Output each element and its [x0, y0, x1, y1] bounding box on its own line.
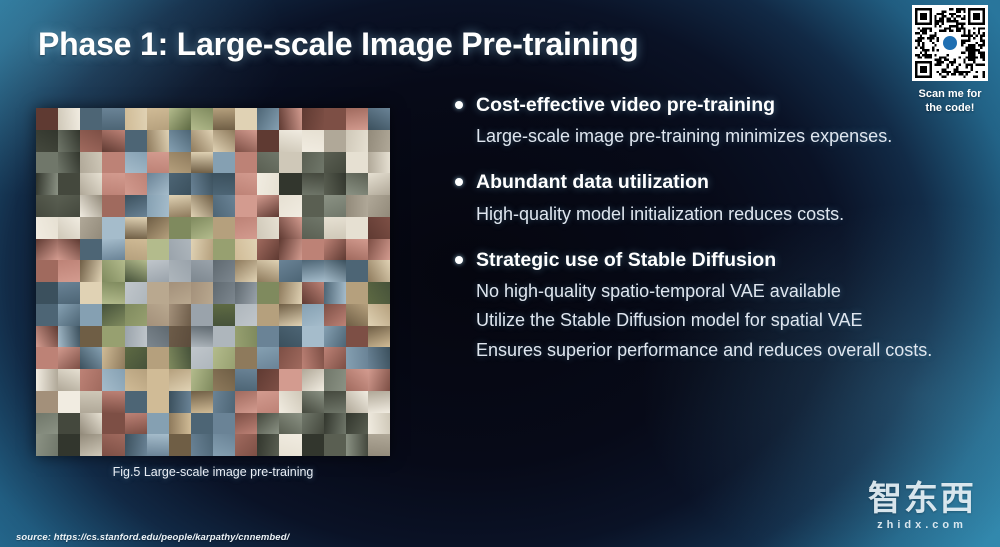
collage-cell [191, 239, 213, 261]
collage-cell [169, 217, 191, 239]
slide-root: Phase 1: Large-scale Image Pre-training … [0, 0, 1000, 547]
collage-cell [125, 260, 147, 282]
collage-cell [213, 304, 235, 326]
watermark: 智东西 zhidx.com [868, 482, 976, 531]
collage-cell [36, 152, 58, 174]
collage-cell [302, 108, 324, 130]
collage-cell [191, 434, 213, 456]
bullet-heading-text: Cost-effective video pre-training [476, 94, 775, 116]
collage-cell [368, 239, 390, 261]
collage-cell [102, 239, 124, 261]
bullet-line: High-quality model initialization reduce… [476, 200, 970, 229]
collage-cell [346, 173, 368, 195]
qr-code-block[interactable]: Scan me for the code! [906, 0, 994, 116]
collage-cell [279, 391, 301, 413]
collage-cell [36, 173, 58, 195]
collage-cell [191, 347, 213, 369]
collage-cell [235, 260, 257, 282]
collage-cell [235, 413, 257, 435]
collage-cell [324, 173, 346, 195]
collage-cell [80, 217, 102, 239]
bullet-heading: Abundant data utilization [450, 169, 970, 195]
collage-cell [235, 326, 257, 348]
collage-cell [125, 195, 147, 217]
collage-cell [80, 434, 102, 456]
collage-cell [257, 173, 279, 195]
collage-cell [302, 130, 324, 152]
collage-cell [257, 434, 279, 456]
bullet-dot-icon [455, 256, 463, 264]
collage-cell [102, 391, 124, 413]
collage-cell [80, 152, 102, 174]
collage-cell [169, 282, 191, 304]
collage-cell [279, 326, 301, 348]
collage-cell [213, 413, 235, 435]
collage-cell [102, 217, 124, 239]
collage-cell [125, 326, 147, 348]
collage-cell [125, 369, 147, 391]
collage-cell [80, 260, 102, 282]
watermark-logo-cn: 智东西 [868, 482, 976, 516]
bullet-list: Cost-effective video pre-training Large-… [450, 92, 970, 383]
collage-cell [102, 152, 124, 174]
collage-cell [58, 282, 80, 304]
collage-cell [169, 195, 191, 217]
collage-cell [213, 217, 235, 239]
collage-cell [324, 347, 346, 369]
collage-cell [191, 369, 213, 391]
collage-cell [169, 173, 191, 195]
collage-cell [191, 195, 213, 217]
collage-cell [324, 326, 346, 348]
collage-cell [279, 108, 301, 130]
collage-cell [36, 217, 58, 239]
collage-cell [346, 239, 368, 261]
collage-cell [147, 391, 169, 413]
watermark-logo-en: zhidx.com [868, 519, 976, 531]
collage-cell [169, 304, 191, 326]
collage-cell [257, 239, 279, 261]
collage-cell [324, 217, 346, 239]
collage-cell [324, 282, 346, 304]
collage-cell [302, 239, 324, 261]
collage-cell [324, 391, 346, 413]
collage-cell [147, 282, 169, 304]
collage-cell [102, 326, 124, 348]
collage-cell [58, 391, 80, 413]
bullet-heading: Cost-effective video pre-training [450, 92, 970, 118]
collage-cell [80, 282, 102, 304]
collage-cell [257, 217, 279, 239]
collage-cell [125, 108, 147, 130]
collage-cell [302, 413, 324, 435]
collage-cell [346, 304, 368, 326]
collage-cell [346, 347, 368, 369]
collage-cell [125, 304, 147, 326]
collage-cell [257, 391, 279, 413]
bullet-heading: Strategic use of Stable Diffusion [450, 247, 970, 273]
collage-cell [213, 152, 235, 174]
collage-cell [36, 282, 58, 304]
collage-cell [302, 217, 324, 239]
collage-cell [213, 369, 235, 391]
collage-cell [302, 369, 324, 391]
collage-cell [257, 369, 279, 391]
bullet-heading-text: Strategic use of Stable Diffusion [476, 249, 776, 271]
collage-cell [213, 239, 235, 261]
collage-cell [125, 130, 147, 152]
collage-cell [213, 108, 235, 130]
bullet-body: No high-quality spatio-temporal VAE avai… [450, 277, 970, 364]
collage-cell [169, 108, 191, 130]
collage-cell [36, 391, 58, 413]
collage-cell [169, 152, 191, 174]
collage-cell [346, 217, 368, 239]
collage-cell [125, 434, 147, 456]
collage-cell [36, 369, 58, 391]
collage-cell [169, 391, 191, 413]
collage-cell [257, 130, 279, 152]
collage-cell [102, 195, 124, 217]
collage-cell [279, 239, 301, 261]
collage-cell [235, 434, 257, 456]
collage-cell [302, 173, 324, 195]
collage-cell [36, 130, 58, 152]
collage-cell [279, 304, 301, 326]
collage-cell [368, 413, 390, 435]
collage-cell [169, 326, 191, 348]
collage-cell [125, 391, 147, 413]
collage-cell [346, 195, 368, 217]
bullet-heading-text: Abundant data utilization [476, 171, 709, 193]
collage-cell [125, 152, 147, 174]
collage-cell [58, 108, 80, 130]
collage-cell [125, 413, 147, 435]
collage-cell [36, 239, 58, 261]
collage-cell [191, 304, 213, 326]
collage-cell [235, 239, 257, 261]
figure-image [36, 108, 390, 456]
collage-cell [213, 195, 235, 217]
collage-cell [235, 369, 257, 391]
collage-cell [102, 130, 124, 152]
bullet-item-3: Strategic use of Stable Diffusion No hig… [450, 247, 970, 365]
collage-cell [324, 434, 346, 456]
collage-cell [324, 108, 346, 130]
collage-cell [36, 326, 58, 348]
collage-cell [147, 413, 169, 435]
collage-cell [213, 260, 235, 282]
collage-cell [191, 217, 213, 239]
collage-cell [125, 239, 147, 261]
collage-cell [147, 326, 169, 348]
collage-cell [169, 347, 191, 369]
collage-cell [279, 195, 301, 217]
collage-cell [147, 195, 169, 217]
collage-cell [302, 391, 324, 413]
qr-caption-line-1: Scan me for [906, 87, 994, 101]
collage-cell [125, 217, 147, 239]
collage-cell [257, 152, 279, 174]
collage-cell [346, 413, 368, 435]
collage-cell [279, 130, 301, 152]
collage-cell [58, 152, 80, 174]
bullet-dot-icon [455, 101, 463, 109]
collage-cell [80, 239, 102, 261]
collage-cell [257, 260, 279, 282]
collage-cell [80, 195, 102, 217]
collage-cell [368, 326, 390, 348]
collage-cell [147, 369, 169, 391]
collage-cell [346, 108, 368, 130]
collage-cell [324, 152, 346, 174]
collage-cell [235, 195, 257, 217]
collage-cell [36, 260, 58, 282]
collage-cell [324, 413, 346, 435]
collage-cell [257, 347, 279, 369]
collage-cell [36, 195, 58, 217]
bullet-line: No high-quality spatio-temporal VAE avai… [476, 277, 970, 306]
collage-cell [302, 347, 324, 369]
collage-cell [147, 130, 169, 152]
collage-cell [191, 152, 213, 174]
collage-cell [102, 173, 124, 195]
bullet-item-2: Abundant data utilization High-quality m… [450, 169, 970, 228]
collage-cell [346, 391, 368, 413]
collage-cell [368, 195, 390, 217]
collage-cell [324, 260, 346, 282]
collage-cell [36, 434, 58, 456]
collage-cell [58, 413, 80, 435]
collage-cell [257, 326, 279, 348]
collage-cell [368, 282, 390, 304]
collage-cell [191, 326, 213, 348]
qr-code-icon[interactable] [912, 5, 988, 81]
collage-cell [102, 260, 124, 282]
collage-cell [125, 347, 147, 369]
collage-cell [324, 369, 346, 391]
collage-cell [147, 304, 169, 326]
collage-cell [125, 173, 147, 195]
collage-cell [169, 434, 191, 456]
collage-cell [302, 304, 324, 326]
collage-cell [169, 260, 191, 282]
collage-cell [368, 369, 390, 391]
collage-cell [346, 326, 368, 348]
collage-cell [302, 434, 324, 456]
collage-cell [235, 391, 257, 413]
collage-cell [147, 173, 169, 195]
collage-cell [346, 434, 368, 456]
collage-cell [213, 282, 235, 304]
collage-cell [36, 347, 58, 369]
collage-cell [213, 326, 235, 348]
collage-cell [102, 413, 124, 435]
collage-cell [302, 152, 324, 174]
collage-cell [102, 282, 124, 304]
bullet-dot-icon [455, 178, 463, 186]
collage-cell [58, 130, 80, 152]
qr-caption-line-2: the code! [906, 101, 994, 115]
collage-cell [80, 130, 102, 152]
collage-cell [235, 217, 257, 239]
collage-cell [257, 108, 279, 130]
collage-cell [235, 347, 257, 369]
image-collage-tsne [36, 108, 390, 456]
collage-cell [368, 152, 390, 174]
collage-cell [279, 217, 301, 239]
collage-cell [80, 391, 102, 413]
collage-cell [346, 260, 368, 282]
bullet-line: Large-scale image pre-training minimizes… [476, 122, 970, 151]
collage-cell [58, 369, 80, 391]
collage-cell [80, 173, 102, 195]
collage-cell [147, 108, 169, 130]
collage-cell [36, 304, 58, 326]
collage-cell [58, 326, 80, 348]
collage-cell [147, 347, 169, 369]
collage-cell [302, 326, 324, 348]
collage-cell [147, 239, 169, 261]
collage-cell [80, 326, 102, 348]
collage-cell [80, 347, 102, 369]
collage-cell [346, 282, 368, 304]
qr-caption: Scan me for the code! [906, 87, 994, 116]
collage-cell [235, 152, 257, 174]
collage-cell [80, 369, 102, 391]
collage-cell [169, 239, 191, 261]
collage-cell [279, 260, 301, 282]
collage-cell [257, 282, 279, 304]
collage-cell [191, 413, 213, 435]
collage-cell [368, 217, 390, 239]
collage-cell [302, 195, 324, 217]
bullet-body: Large-scale image pre-training minimizes… [450, 122, 970, 151]
collage-cell [368, 108, 390, 130]
source-note: source: https://cs.stanford.edu/people/k… [16, 532, 289, 543]
bullet-body: High-quality model initialization reduce… [450, 200, 970, 229]
collage-cell [58, 304, 80, 326]
collage-cell [58, 195, 80, 217]
collage-cell [257, 304, 279, 326]
collage-cell [279, 413, 301, 435]
collage-cell [191, 391, 213, 413]
collage-cell [368, 434, 390, 456]
collage-cell [125, 282, 147, 304]
qr-center-logo-icon [940, 33, 960, 53]
collage-cell [102, 304, 124, 326]
collage-cell [368, 173, 390, 195]
collage-cell [58, 239, 80, 261]
collage-cell [191, 260, 213, 282]
collage-cell [279, 152, 301, 174]
collage-cell [36, 108, 58, 130]
collage-cell [80, 413, 102, 435]
collage-cell [346, 130, 368, 152]
collage-cell [235, 282, 257, 304]
collage-cell [368, 347, 390, 369]
collage-cell [58, 217, 80, 239]
collage-cell [368, 391, 390, 413]
collage-cell [102, 369, 124, 391]
collage-cell [191, 108, 213, 130]
collage-cell [147, 152, 169, 174]
collage-cell [213, 434, 235, 456]
collage-cell [80, 304, 102, 326]
collage-cell [235, 304, 257, 326]
collage-cell [191, 282, 213, 304]
collage-cell [235, 130, 257, 152]
collage-cell [213, 130, 235, 152]
collage-cell [58, 434, 80, 456]
collage-cell [257, 413, 279, 435]
collage-cell [102, 108, 124, 130]
bullet-line: Utilize the Stable Diffusion model for s… [476, 306, 970, 335]
collage-cell [36, 413, 58, 435]
collage-cell [324, 195, 346, 217]
collage-cell [169, 369, 191, 391]
collage-cell [279, 369, 301, 391]
collage-cell [213, 347, 235, 369]
collage-cell [324, 130, 346, 152]
collage-cell [257, 195, 279, 217]
collage-cell [58, 347, 80, 369]
collage-cell [346, 369, 368, 391]
collage-cell [169, 130, 191, 152]
figure-caption: Fig.5 Large-scale image pre-training [36, 465, 390, 479]
collage-cell [191, 130, 213, 152]
collage-cell [279, 282, 301, 304]
collage-cell [302, 282, 324, 304]
collage-cell [80, 108, 102, 130]
collage-cell [191, 173, 213, 195]
page-title: Phase 1: Large-scale Image Pre-training [38, 26, 638, 63]
collage-cell [279, 347, 301, 369]
collage-cell [58, 173, 80, 195]
collage-cell [102, 347, 124, 369]
collage-cell [235, 173, 257, 195]
bullet-line: Ensures superior performance and reduces… [476, 336, 970, 365]
collage-cell [169, 413, 191, 435]
collage-cell [279, 173, 301, 195]
collage-cell [302, 260, 324, 282]
collage-cell [58, 260, 80, 282]
collage-cell [324, 304, 346, 326]
collage-cell [147, 260, 169, 282]
collage-cell [147, 217, 169, 239]
collage-cell [346, 152, 368, 174]
collage-cell [213, 391, 235, 413]
collage-cell [235, 108, 257, 130]
collage-cell [102, 434, 124, 456]
collage-cell [368, 304, 390, 326]
collage-cell [324, 239, 346, 261]
collage-cell [147, 434, 169, 456]
collage-cell [368, 130, 390, 152]
collage-cell [213, 173, 235, 195]
collage-cell [279, 434, 301, 456]
bullet-item-1: Cost-effective video pre-training Large-… [450, 92, 970, 151]
collage-cell [368, 260, 390, 282]
